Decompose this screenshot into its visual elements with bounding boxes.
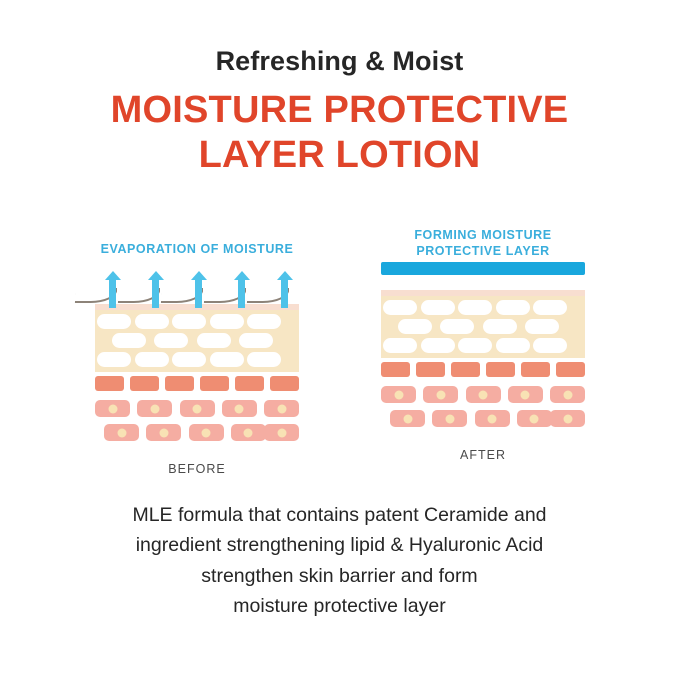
body-line-1: MLE formula that contains patent Ceramid… xyxy=(0,500,679,530)
corneocyte-cell xyxy=(172,352,206,367)
eyebrow-heading: Refreshing & Moist xyxy=(0,46,679,77)
panel-before: EVAPORATION OF MOISTURE BEFORE xyxy=(74,228,320,476)
corneocyte-cell xyxy=(210,314,244,329)
cell-nucleus xyxy=(403,414,412,423)
basal-cell xyxy=(130,376,159,391)
basal-cell xyxy=(486,362,515,377)
corneocyte-cell xyxy=(112,333,146,348)
cell-nucleus xyxy=(445,414,454,423)
corneocyte-cell xyxy=(421,338,455,353)
moisture-evaporation-zone xyxy=(95,276,299,304)
evaporation-arrow-icon xyxy=(109,278,116,308)
cell-nucleus xyxy=(436,390,445,399)
dermis-cell xyxy=(137,400,172,417)
cell-nucleus xyxy=(193,404,202,413)
cell-nucleus xyxy=(488,414,497,423)
corneocyte-cell xyxy=(383,300,417,315)
heading-block: Refreshing & Moist MOISTURE PROTECTIVE L… xyxy=(0,0,679,178)
film-spacer xyxy=(381,262,585,290)
corneocyte-cell xyxy=(239,333,273,348)
cell-nucleus xyxy=(150,404,159,413)
evaporation-arrow-icon xyxy=(152,278,159,308)
cell-nucleus xyxy=(202,428,211,437)
body-line-4: moisture protective layer xyxy=(0,591,679,621)
dermis-cell xyxy=(475,410,510,427)
basal-cell xyxy=(521,362,550,377)
dermis-cell xyxy=(466,386,501,403)
corneocyte-cell xyxy=(97,314,131,329)
basal-cell xyxy=(235,376,264,391)
basal-layer-before xyxy=(95,372,299,397)
evaporation-arrow-icon xyxy=(281,278,288,308)
dermis-cell xyxy=(222,400,257,417)
basal-cell xyxy=(451,362,480,377)
dermis-cell-row-2-after xyxy=(381,407,585,431)
dermis-cell xyxy=(180,400,215,417)
cell-nucleus xyxy=(521,390,530,399)
evaporation-arrow-icon xyxy=(195,278,202,308)
cell-nucleus xyxy=(277,404,286,413)
body-description: MLE formula that contains patent Ceramid… xyxy=(0,500,679,622)
stratum-corneum-after xyxy=(381,296,585,358)
cell-nucleus xyxy=(563,390,572,399)
corneocyte-cell xyxy=(458,338,492,353)
dermis-cell-row-1-before xyxy=(95,397,299,421)
cell-nucleus xyxy=(159,428,168,437)
corneocyte-cell xyxy=(135,352,169,367)
before-panel-label-line-1: EVAPORATION OF MOISTURE xyxy=(101,242,294,256)
after-panel-label: FORMING MOISTURE PROTECTIVE LAYER xyxy=(360,228,606,262)
cell-nucleus xyxy=(394,390,403,399)
dermis-cell xyxy=(517,410,552,427)
body-line-3: strengthen skin barrier and form xyxy=(0,561,679,591)
corneocyte-cell xyxy=(197,333,231,348)
basal-cell xyxy=(556,362,585,377)
dermis-cell xyxy=(390,410,425,427)
dermis-cell-row-2-before xyxy=(95,421,299,445)
dermis-cell xyxy=(423,386,458,403)
dermis-cell xyxy=(231,424,266,441)
dermis-cell xyxy=(381,386,416,403)
dermis-cell xyxy=(95,400,130,417)
corneocyte-cell xyxy=(154,333,188,348)
corneocyte-cell xyxy=(383,338,417,353)
cell-nucleus xyxy=(244,428,253,437)
body-line-2: ingredient strengthening lipid & Hyaluro… xyxy=(0,530,679,560)
corneocyte-cell xyxy=(496,338,530,353)
basal-cell xyxy=(381,362,410,377)
page-title-line-1: MOISTURE PROTECTIVE xyxy=(0,88,679,133)
corneocyte-cell xyxy=(458,300,492,315)
basal-cell xyxy=(165,376,194,391)
corneocyte-cell xyxy=(440,319,474,334)
corneocyte-cell xyxy=(247,314,281,329)
dermis-cell xyxy=(550,386,585,403)
dermis-cell xyxy=(550,410,585,427)
cell-nucleus xyxy=(479,390,488,399)
corneocyte-cell xyxy=(421,300,455,315)
moisture-protective-film xyxy=(381,262,585,275)
skin-cross-section-after xyxy=(381,262,585,431)
cell-nucleus xyxy=(563,414,572,423)
corneocyte-cell xyxy=(97,352,131,367)
state-label-before: BEFORE xyxy=(74,462,320,476)
corneocyte-cell xyxy=(533,300,567,315)
cell-nucleus xyxy=(277,428,286,437)
corneocyte-cell xyxy=(398,319,432,334)
state-label-after: AFTER xyxy=(360,448,606,462)
corneocyte-cell xyxy=(483,319,517,334)
cell-nucleus xyxy=(530,414,539,423)
corneocyte-cell xyxy=(172,314,206,329)
dermis-cell xyxy=(264,400,299,417)
corneocyte-cell xyxy=(135,314,169,329)
cell-nucleus xyxy=(108,404,117,413)
dermis-cell xyxy=(104,424,139,441)
dermis-cell xyxy=(189,424,224,441)
corneocyte-cell xyxy=(533,338,567,353)
page-title-line-2: LAYER LOTION xyxy=(0,133,679,178)
dermis-cell-row-1-after xyxy=(381,383,585,407)
basal-cell xyxy=(200,376,229,391)
corneocyte-cell xyxy=(525,319,559,334)
dermis-cell xyxy=(508,386,543,403)
panel-after: FORMING MOISTURE PROTECTIVE LAYER AFTER xyxy=(360,228,606,462)
stratum-corneum-before xyxy=(95,310,299,372)
corneocyte-cell xyxy=(496,300,530,315)
basal-cell xyxy=(270,376,299,391)
evaporation-arrow-icon xyxy=(238,278,245,308)
page-title: MOISTURE PROTECTIVE LAYER LOTION xyxy=(0,88,679,178)
skin-cross-section-before xyxy=(95,276,299,445)
dermis-cell xyxy=(432,410,467,427)
basal-cell xyxy=(95,376,124,391)
before-panel-label: EVAPORATION OF MOISTURE xyxy=(74,228,320,276)
cell-nucleus xyxy=(117,428,126,437)
skin-comparison-diagram: EVAPORATION OF MOISTURE BEFORE FORMING M… xyxy=(0,228,679,468)
dermis-cell xyxy=(264,424,299,441)
basal-layer-after xyxy=(381,358,585,383)
product-infographic: Refreshing & Moist MOISTURE PROTECTIVE L… xyxy=(0,0,679,679)
corneocyte-cell xyxy=(210,352,244,367)
cell-nucleus xyxy=(235,404,244,413)
basal-cell xyxy=(416,362,445,377)
after-panel-label-line-1: FORMING MOISTURE xyxy=(414,228,551,242)
dermis-cell xyxy=(146,424,181,441)
after-panel-label-line-2: PROTECTIVE LAYER xyxy=(416,244,549,258)
corneocyte-cell xyxy=(247,352,281,367)
